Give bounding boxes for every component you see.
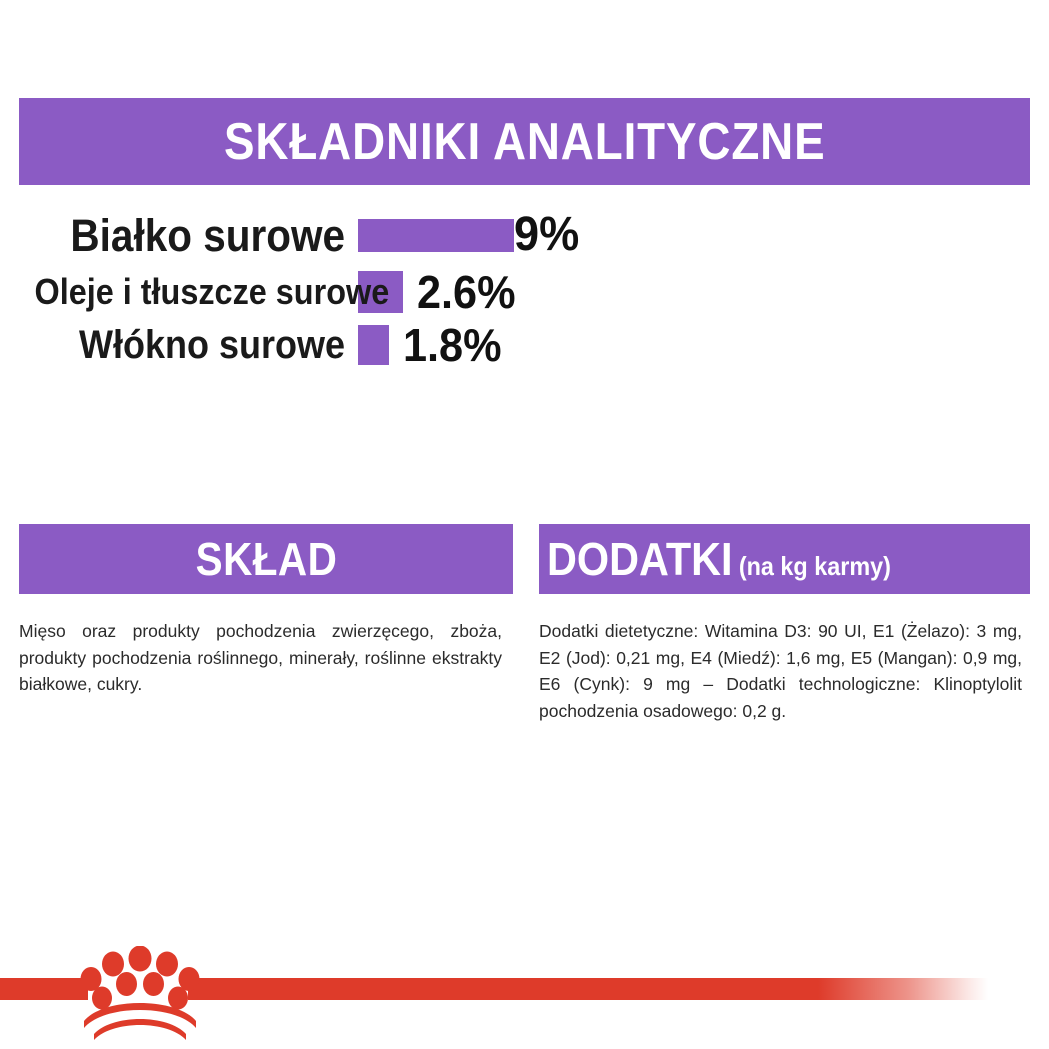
constituent-bar-protein [358,219,514,252]
analytical-constituents-header: SKŁADNIKI ANALITYCZNE [19,98,1030,185]
analytical-constituents-chart: Białko surowe 9% Oleje i tłuszcze surowe… [0,205,700,371]
composition-header: SKŁAD [19,524,513,594]
composition-text: Mięso oraz produkty pochodzenia zwierzęc… [19,618,502,698]
constituent-row-fibre: Włókno surowe 1.8% [0,318,700,371]
composition-title: SKŁAD [195,536,337,582]
analytical-constituents-title: SKŁADNIKI ANALITYCZNE [224,116,825,168]
constituent-value-protein: 9% [514,211,579,259]
additives-header: DODATKI (na kg karmy) [539,524,1030,594]
constituent-row-protein: Białko surowe 9% [0,205,700,265]
brand-bar-right-segment [188,978,1049,1000]
additives-title-group: DODATKI (na kg karmy) [547,536,891,582]
constituent-label-fibre: Włókno surowe [35,325,346,365]
brand-bar-left-segment [0,978,88,1000]
constituent-row-fat: Oleje i tłuszcze surowe 2.6% [0,265,700,318]
product-info-panel: SKŁADNIKI ANALITYCZNE Białko surowe 9% O… [0,0,1049,1049]
constituent-value-fat: 2.6% [417,269,516,315]
additives-text: Dodatki dietetyczne: Witamina D3: 90 UI,… [539,618,1022,724]
constituent-value-fibre: 1.8% [403,322,502,368]
additives-title-suffix: (na kg karmy) [739,553,891,579]
constituent-label-protein: Białko surowe [35,213,346,258]
royal-canin-crown-icon [80,946,200,1042]
constituent-bar-fibre [358,325,389,365]
additives-title: DODATKI [547,536,733,582]
constituent-label-fat: Oleje i tłuszcze surowe [35,274,346,310]
